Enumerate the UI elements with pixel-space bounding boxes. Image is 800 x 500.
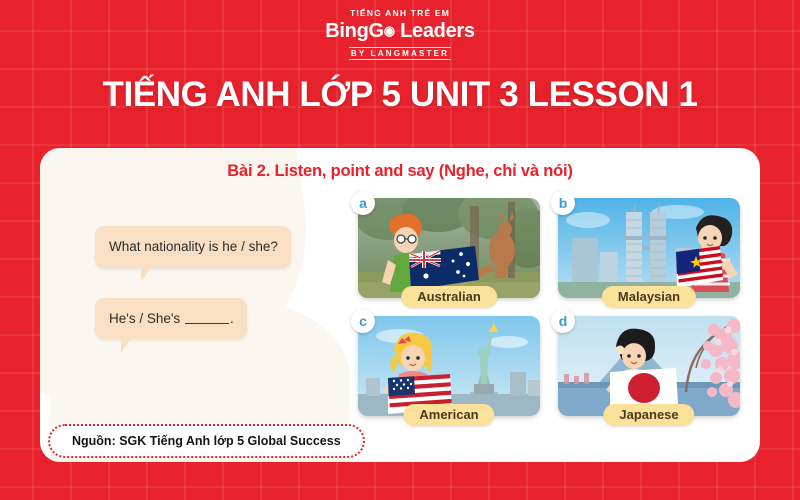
source-badge: Nguồn: SGK Tiếng Anh lớp 5 Global Succes… <box>48 424 365 458</box>
brand-wordmark: BingG◉ Leaders <box>0 21 800 41</box>
answer-blank <box>185 312 229 324</box>
card-photo <box>558 198 740 298</box>
question-text: What nationality is he / she? <box>109 239 278 254</box>
card-caption: Malaysian <box>602 286 696 308</box>
bubble-question-wrap: What nationality is he / she? <box>95 226 310 268</box>
picture-card-japanese[interactable]: d Japanese <box>558 316 740 416</box>
brand-byline: BY LANGMASTER <box>351 50 449 58</box>
card-caption: Australian <box>401 286 497 308</box>
card-badge-letter: b <box>551 191 575 215</box>
speech-bubble-question: What nationality is he / she? <box>95 226 291 268</box>
card-photo <box>558 316 740 416</box>
brand-logo: TIẾNG ANH TRẺ EM BingG◉ Leaders BY LANGM… <box>0 9 800 60</box>
picture-card-american[interactable]: c American <box>358 316 540 416</box>
exercise-subtitle: Bài 2. Listen, point and say (Nghe, chỉ … <box>40 162 760 181</box>
bubble-answer-wrap: He's / She's . <box>95 298 310 340</box>
page-title: TIẾNG ANH LỚP 5 UNIT 3 LESSON 1 <box>0 76 800 115</box>
bubble-tail-icon <box>121 337 143 353</box>
answer-prefix: He's / She's <box>109 311 184 326</box>
card-badge-letter: d <box>551 309 575 333</box>
brand-wordmark-tail: Leaders <box>395 20 475 42</box>
card-badge-letter: a <box>351 191 375 215</box>
brand-kicker: TIẾNG ANH TRẺ EM <box>0 9 800 18</box>
poster-canvas: TIẾNG ANH TRẺ EM BingG◉ Leaders BY LANGM… <box>0 0 800 500</box>
source-text: Nguồn: SGK Tiếng Anh lớp 5 Global Succes… <box>72 434 341 448</box>
card-caption: American <box>403 404 494 426</box>
dialogue-bubbles: What nationality is he / she? He's / She… <box>95 226 310 339</box>
australia-illustration-icon <box>358 198 540 298</box>
malaysia-illustration-icon <box>558 198 740 298</box>
brand-wordmark-main: BingG <box>325 20 384 42</box>
card-caption: Japanese <box>603 404 694 426</box>
japan-illustration-icon <box>558 316 740 416</box>
picture-card-grid: a Australian <box>358 198 740 416</box>
speech-bubble-answer: He's / She's . <box>95 298 247 340</box>
card-photo <box>358 316 540 416</box>
usa-illustration-icon <box>358 316 540 416</box>
card-photo <box>358 198 540 298</box>
brand-byline-rule: BY LANGMASTER <box>349 47 451 60</box>
bubble-tail-icon <box>141 266 163 282</box>
answer-suffix: . <box>230 311 234 326</box>
picture-card-australian[interactable]: a Australian <box>358 198 540 298</box>
registered-mark-icon: ◉ <box>384 23 395 38</box>
card-badge-letter: c <box>351 309 375 333</box>
picture-card-malaysian[interactable]: b Malaysian <box>558 198 740 298</box>
content-panel: Bài 2. Listen, point and say (Nghe, chỉ … <box>40 148 760 462</box>
